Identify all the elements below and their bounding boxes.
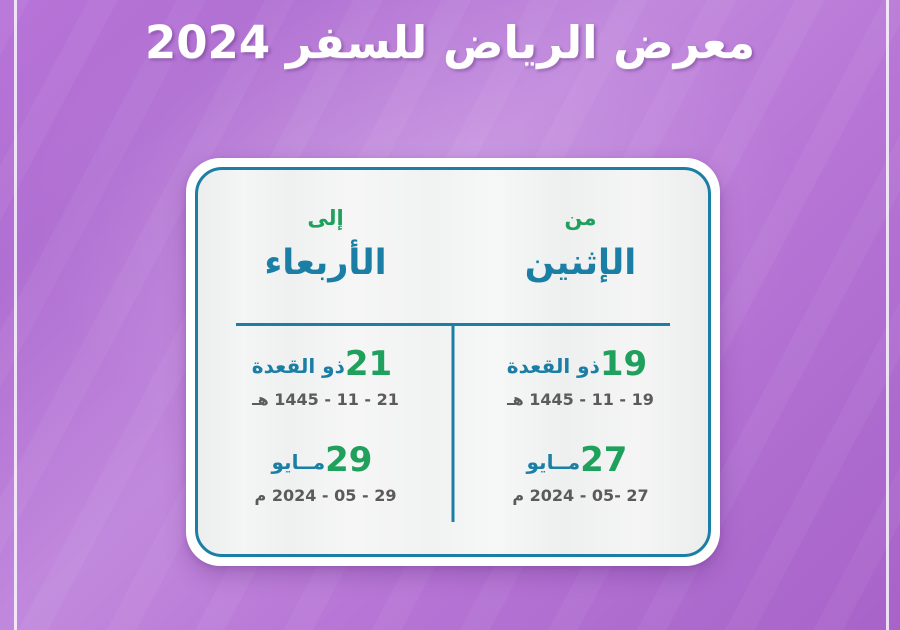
page-title: معرض الرياض للسفر 2024	[0, 16, 900, 69]
relation-label-to: إلى	[307, 208, 343, 229]
gregorian-main-to: 29مــايو	[198, 442, 453, 479]
hijri-day-number-from: 19	[600, 344, 647, 384]
gregorian-day-number-from: 27	[580, 440, 627, 480]
gregorian-numeric-from: 27 -05 - 2024 م	[453, 488, 708, 504]
day-name-to: الأربعاء	[264, 246, 386, 281]
right-edge-stripe	[886, 0, 889, 630]
hijri-month-name-from: ذو القعدة	[507, 354, 600, 378]
left-edge-stripe	[14, 0, 17, 630]
date-column-to: إلى الأربعاء 21ذو القعدة 21 - 11 - 1445 …	[198, 170, 453, 554]
gregorian-date-to: 29مــايو 29 - 05 - 2024 م	[198, 442, 453, 504]
hijri-date-from: 19ذو القعدة 19 - 11 - 1445 هـ	[453, 346, 708, 408]
hijri-day-number-to: 21	[345, 344, 392, 384]
gregorian-month-name-to: مــايو	[272, 450, 326, 474]
hijri-main-from: 19ذو القعدة	[453, 346, 708, 383]
gregorian-date-from: 27مــايو 27 -05 - 2024 م	[453, 442, 708, 504]
date-range-card-inner: من الإثنين 19ذو القعدة 19 - 11 - 1445 هـ…	[195, 167, 711, 557]
hijri-main-to: 21ذو القعدة	[198, 346, 453, 383]
poster-canvas: معرض الرياض للسفر 2024 من الإثنين 19ذو ا…	[0, 0, 900, 630]
hijri-date-to: 21ذو القعدة 21 - 11 - 1445 هـ	[198, 346, 453, 408]
gregorian-numeric-to: 29 - 05 - 2024 م	[198, 488, 453, 504]
gregorian-month-name-from: مــايو	[527, 450, 581, 474]
gregorian-main-from: 27مــايو	[453, 442, 708, 479]
gregorian-day-number-to: 29	[325, 440, 372, 480]
relation-label-from: من	[565, 208, 597, 229]
vertical-divider	[452, 325, 455, 522]
hijri-month-name-to: ذو القعدة	[252, 354, 345, 378]
hijri-numeric-from: 19 - 11 - 1445 هـ	[453, 392, 708, 408]
day-name-from: الإثنين	[525, 246, 637, 281]
date-column-from: من الإثنين 19ذو القعدة 19 - 11 - 1445 هـ…	[453, 170, 708, 554]
date-range-card: من الإثنين 19ذو القعدة 19 - 11 - 1445 هـ…	[186, 158, 720, 566]
hijri-numeric-to: 21 - 11 - 1445 هـ	[198, 392, 453, 408]
